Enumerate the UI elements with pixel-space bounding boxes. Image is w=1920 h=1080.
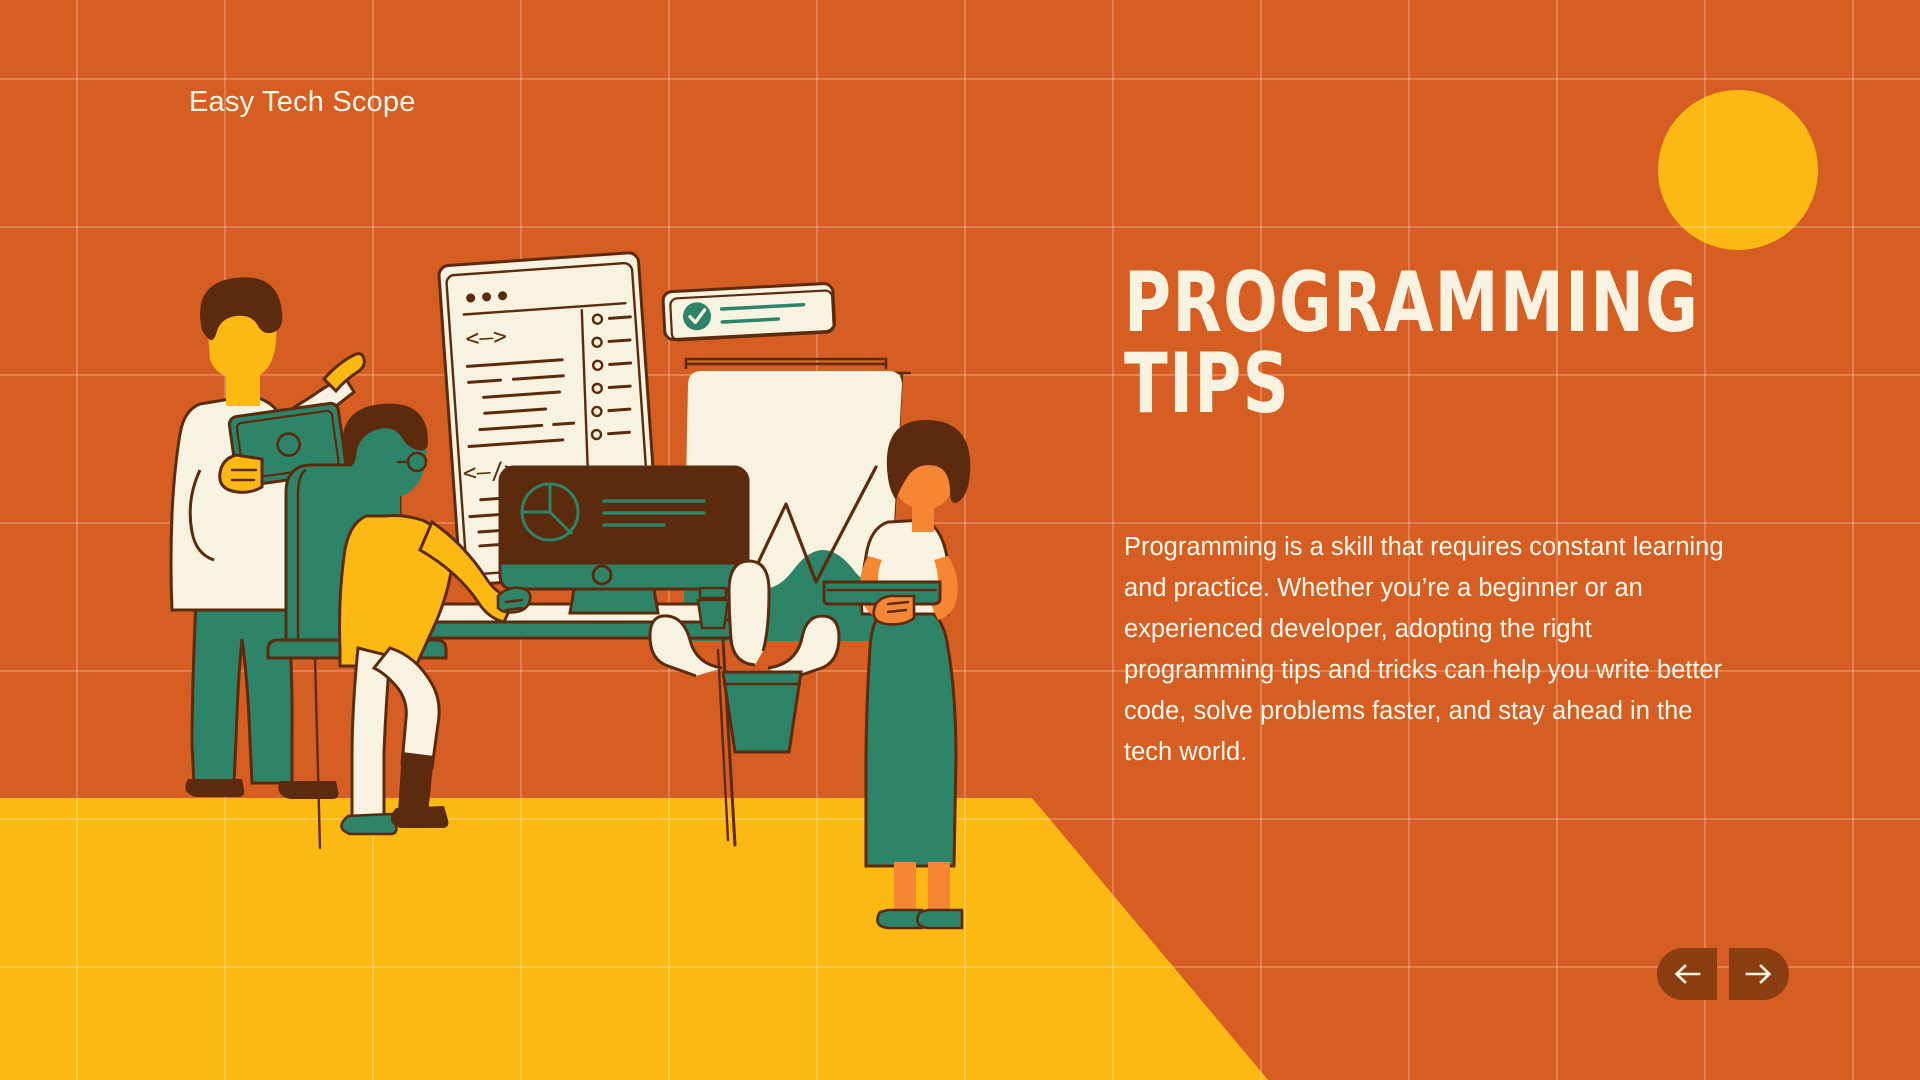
body-paragraph: Programming is a skill that requires con…	[1124, 527, 1744, 773]
svg-text:<—>: <—>	[465, 324, 508, 353]
sun-circle-decoration	[1658, 90, 1818, 250]
slide-canvas: .cream { fill:#F7F3E0; } .green { fill:#…	[0, 0, 1920, 1080]
page-title-line-1: PROGRAMMING	[1124, 262, 1674, 343]
arrow-right-icon	[1744, 963, 1774, 985]
previous-slide-button[interactable]	[1657, 948, 1717, 1000]
slide-navigation	[1657, 948, 1789, 1000]
page-title: PROGRAMMING TIPS	[1124, 262, 1674, 425]
page-title-line-2: TIPS	[1124, 343, 1674, 424]
brand-name: Easy Tech Scope	[189, 86, 416, 119]
next-slide-button[interactable]	[1729, 948, 1789, 1000]
arrow-left-icon	[1672, 963, 1702, 985]
content-column: PROGRAMMING TIPS Programming is a skill …	[1124, 262, 1764, 773]
hero-illustration: .cream { fill:#F7F3E0; } .green { fill:#…	[0, 0, 1100, 1080]
